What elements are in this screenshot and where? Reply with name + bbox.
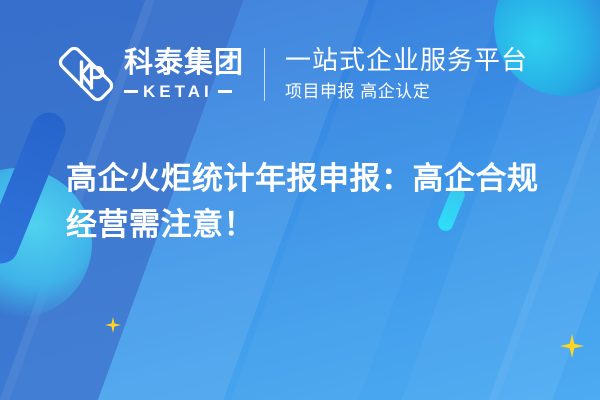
sparkle-star-icon-small	[105, 317, 121, 333]
brand-name-en: KETAI	[143, 83, 213, 100]
wordmark-dash-left	[124, 90, 138, 93]
tagline-secondary: 项目申报 高企认定	[285, 82, 528, 102]
brand-tagline: 一站式企业服务平台 项目申报 高企认定	[285, 46, 528, 102]
tagline-primary: 一站式企业服务平台	[285, 46, 528, 76]
background-pill-dark	[0, 107, 71, 268]
brand-wordmark: 科泰集团 KETAI	[124, 49, 244, 100]
promo-banner: 科泰集团 KETAI 一站式企业服务平台 项目申报 高企认定 高企火炬统计年报申…	[0, 0, 600, 400]
brand-name-cn: 科泰集团	[124, 49, 244, 78]
wordmark-dash-right	[218, 90, 232, 93]
kp-diamond-monogram-icon	[58, 46, 114, 102]
header-divider	[264, 48, 265, 101]
banner-header: 科泰集团 KETAI 一站式企业服务平台 项目申报 高企认定	[0, 38, 600, 110]
sparkle-star-icon-large	[560, 334, 584, 358]
brand-name-en-row: KETAI	[124, 83, 244, 100]
brand-logo[interactable]: 科泰集团 KETAI	[58, 46, 244, 102]
banner-headline: 高企火炬统计年报申报：高企合规经营需注意！	[66, 156, 566, 248]
